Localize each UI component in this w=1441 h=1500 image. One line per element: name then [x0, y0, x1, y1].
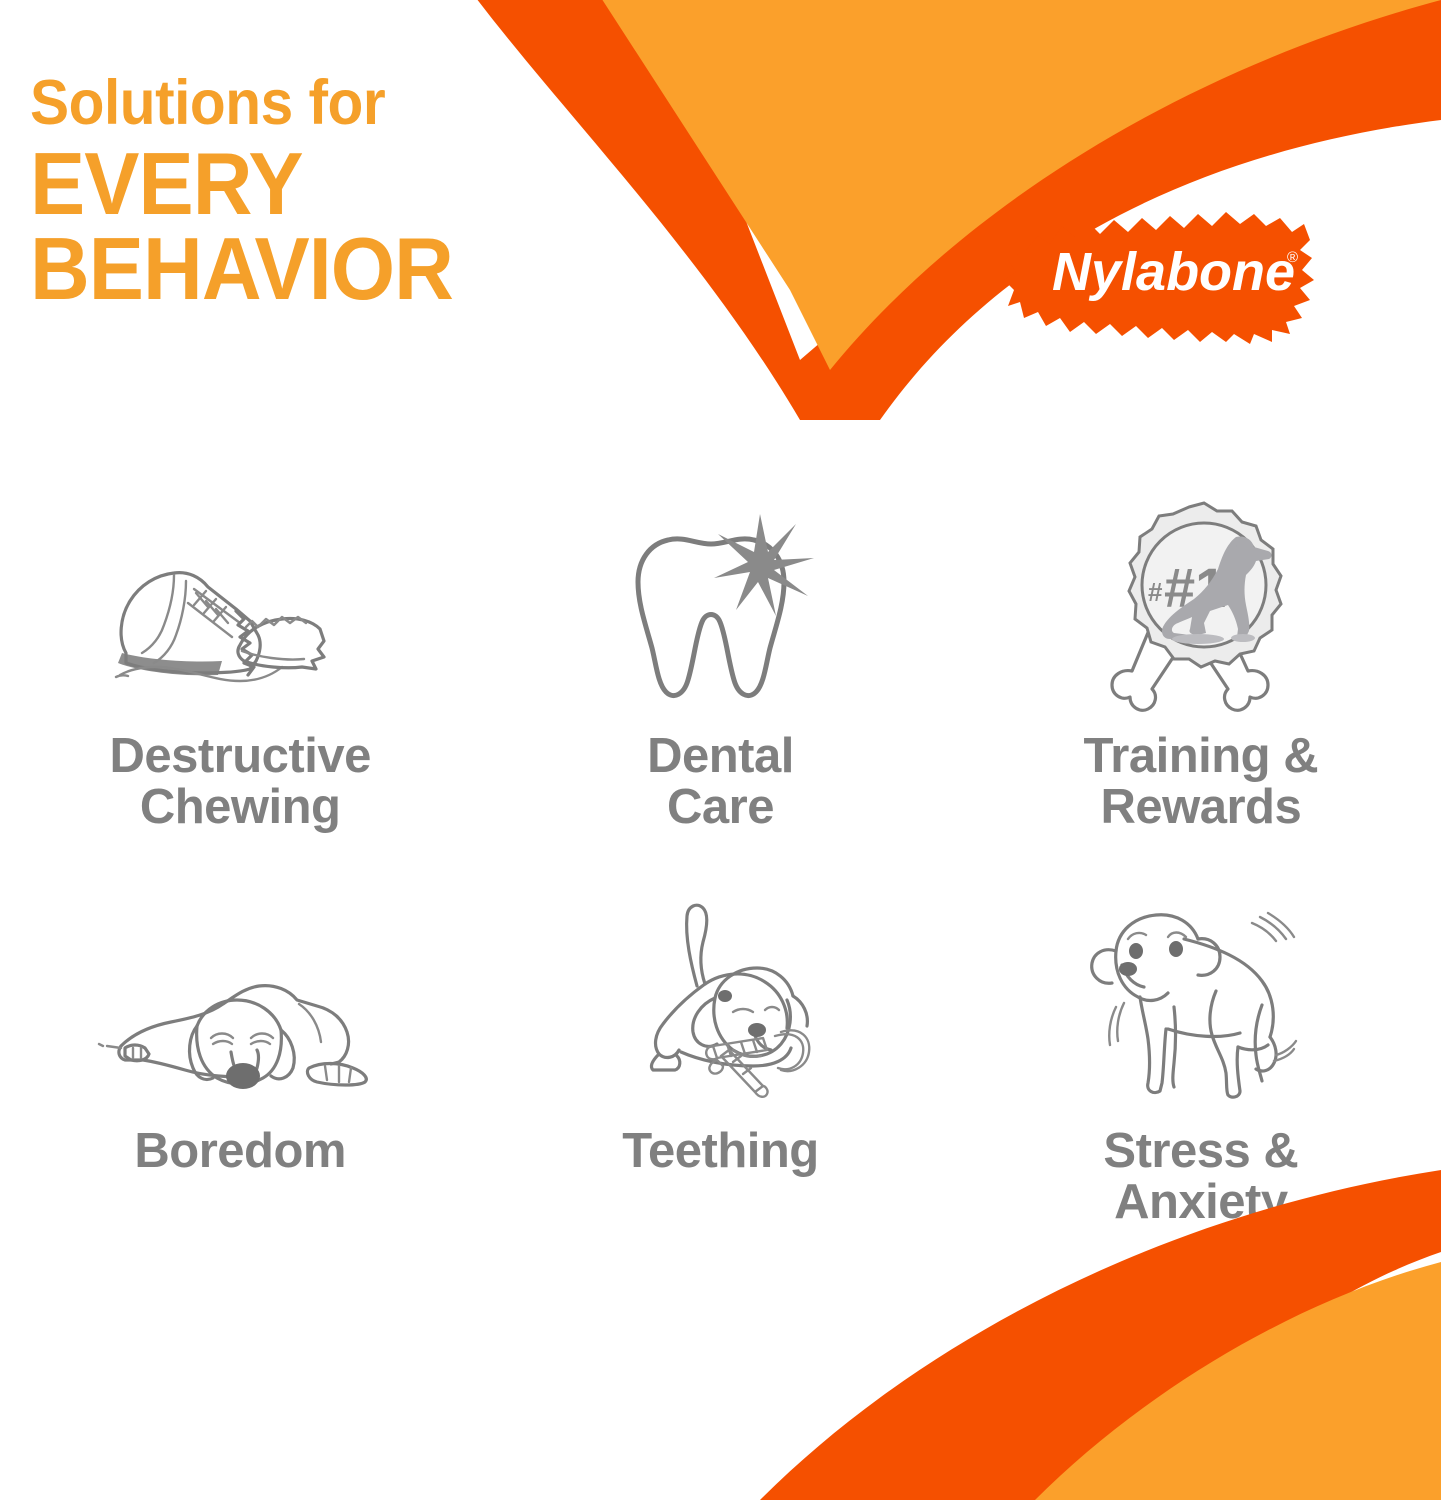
nylabone-logo: Nylabone ® — [1004, 192, 1324, 352]
behavior-label-line-1: Training & — [1084, 731, 1319, 782]
registered-mark: ® — [1287, 249, 1298, 266]
behavior-label-line-1: Dental — [647, 731, 794, 782]
behavior-label: Dental Care — [647, 731, 794, 833]
behavior-label-line-1: Destructive — [109, 731, 370, 782]
puppy-with-chew-toy-icon — [605, 900, 835, 1110]
behavior-label: Destructive Chewing — [109, 731, 370, 833]
behavior-label-line-2: Chewing — [109, 782, 370, 833]
chewed-shoe-icon — [90, 500, 390, 715]
rosette-medal: # #1 — [1129, 503, 1281, 667]
behavior-label: Boredom — [134, 1126, 346, 1177]
behavior-label-line-2: Care — [647, 782, 794, 833]
behavior-label: Teething — [622, 1126, 819, 1177]
behavior-label: Training & Rewards — [1084, 731, 1319, 833]
headline-block: Solutions for EVERY BEHAVIOR — [30, 72, 670, 312]
headline-line-2: EVERY — [30, 141, 632, 226]
award-medal-dog-icon: # #1 — [1086, 500, 1316, 715]
anxious-dog-icon — [1076, 900, 1326, 1110]
brand-wordmark-text: Nylabone — [1052, 242, 1295, 302]
behavior-label: Stress & Anxiety — [1103, 1126, 1298, 1228]
medal-hash-symbol: # — [1148, 577, 1163, 607]
behavior-label-line-1: Stress & — [1103, 1126, 1298, 1177]
promo-poster: Solutions for EVERY BEHAVIOR Nylabone ® — [0, 0, 1441, 1500]
behavior-item-destructive-chewing[interactable]: Destructive Chewing — [0, 500, 480, 900]
behavior-item-dental-care[interactable]: Dental Care — [480, 500, 960, 900]
behavior-item-stress-anxiety[interactable]: Stress & Anxiety — [961, 900, 1441, 1280]
behavior-label-line-2: Rewards — [1084, 782, 1319, 833]
behavior-label-line-1: Teething — [622, 1126, 819, 1177]
behavior-item-boredom[interactable]: Boredom — [0, 900, 480, 1280]
behavior-grid: Destructive Chewing Dental Care — [0, 500, 1441, 1280]
headline-line-3: BEHAVIOR — [30, 226, 632, 311]
lying-bored-dog-icon — [85, 900, 395, 1110]
sparkle-star — [714, 514, 814, 616]
sparkling-tooth-icon — [610, 500, 830, 715]
behavior-label-line-2: Anxiety — [1103, 1177, 1298, 1228]
headline-line-1: Solutions for — [30, 72, 625, 135]
behavior-label-line-1: Boredom — [134, 1126, 346, 1177]
behavior-item-training-rewards[interactable]: # #1 Training & Rewards — [961, 500, 1441, 900]
behavior-item-teething[interactable]: Teething — [480, 900, 960, 1280]
